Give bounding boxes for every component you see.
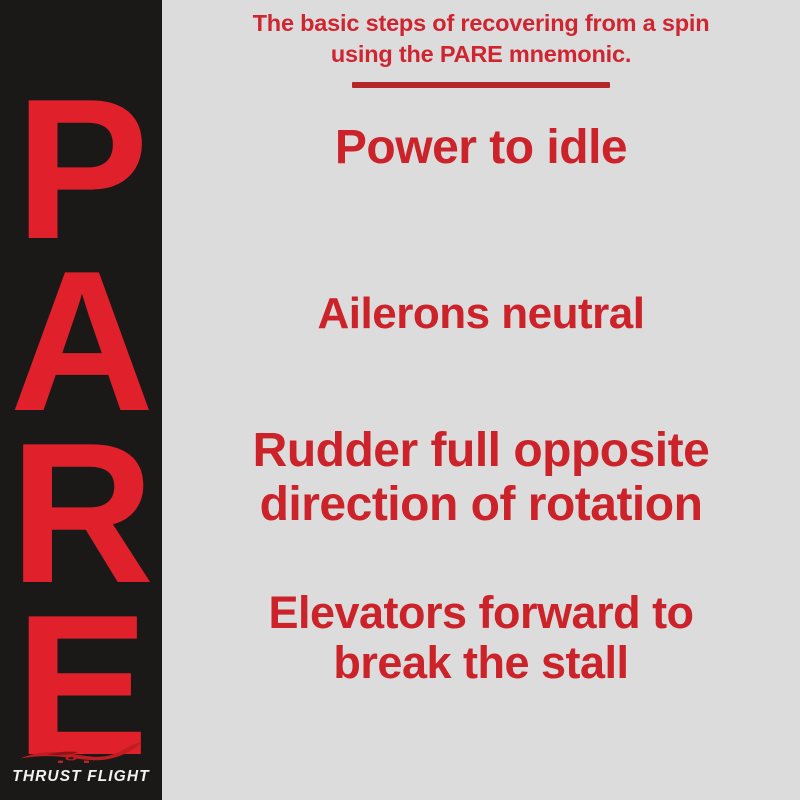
step-elevator-line-1: Elevators forward to: [174, 588, 788, 638]
title-underline-rule: [352, 82, 610, 88]
page-title-line-2: using the PARE mnemonic.: [186, 39, 776, 70]
content-panel: The basic steps of recovering from a spi…: [162, 0, 800, 800]
mnemonic-sidebar: P A R E Thrust Flight: [0, 0, 162, 800]
step-elevator: Elevators forward to break the stall: [162, 588, 800, 687]
brand-logo: Thrust Flight: [0, 740, 162, 786]
step-elevator-line-2: break the stall: [174, 638, 788, 688]
step-power: Power to idle: [162, 122, 800, 174]
step-power-line-1: Power to idle: [174, 122, 788, 174]
page-title-line-1: The basic steps of recovering from a spi…: [186, 8, 776, 39]
step-ailerons: Ailerons neutral: [162, 290, 800, 338]
step-rudder-line-1: Rudder full opposite: [174, 424, 788, 478]
mnemonic-letter-stack: P A R E: [0, 84, 162, 772]
step-rudder-line-2: direction of rotation: [174, 478, 788, 532]
step-rudder: Rudder full opposite direction of rotati…: [162, 424, 800, 532]
step-ailerons-line-1: Ailerons neutral: [174, 290, 788, 338]
pare-infographic: P A R E Thrust Flight The basic steps of…: [0, 0, 800, 800]
page-title: The basic steps of recovering from a spi…: [162, 8, 800, 88]
airplane-swoosh-icon: [18, 740, 144, 766]
brand-wordmark: Thrust Flight: [12, 768, 149, 786]
